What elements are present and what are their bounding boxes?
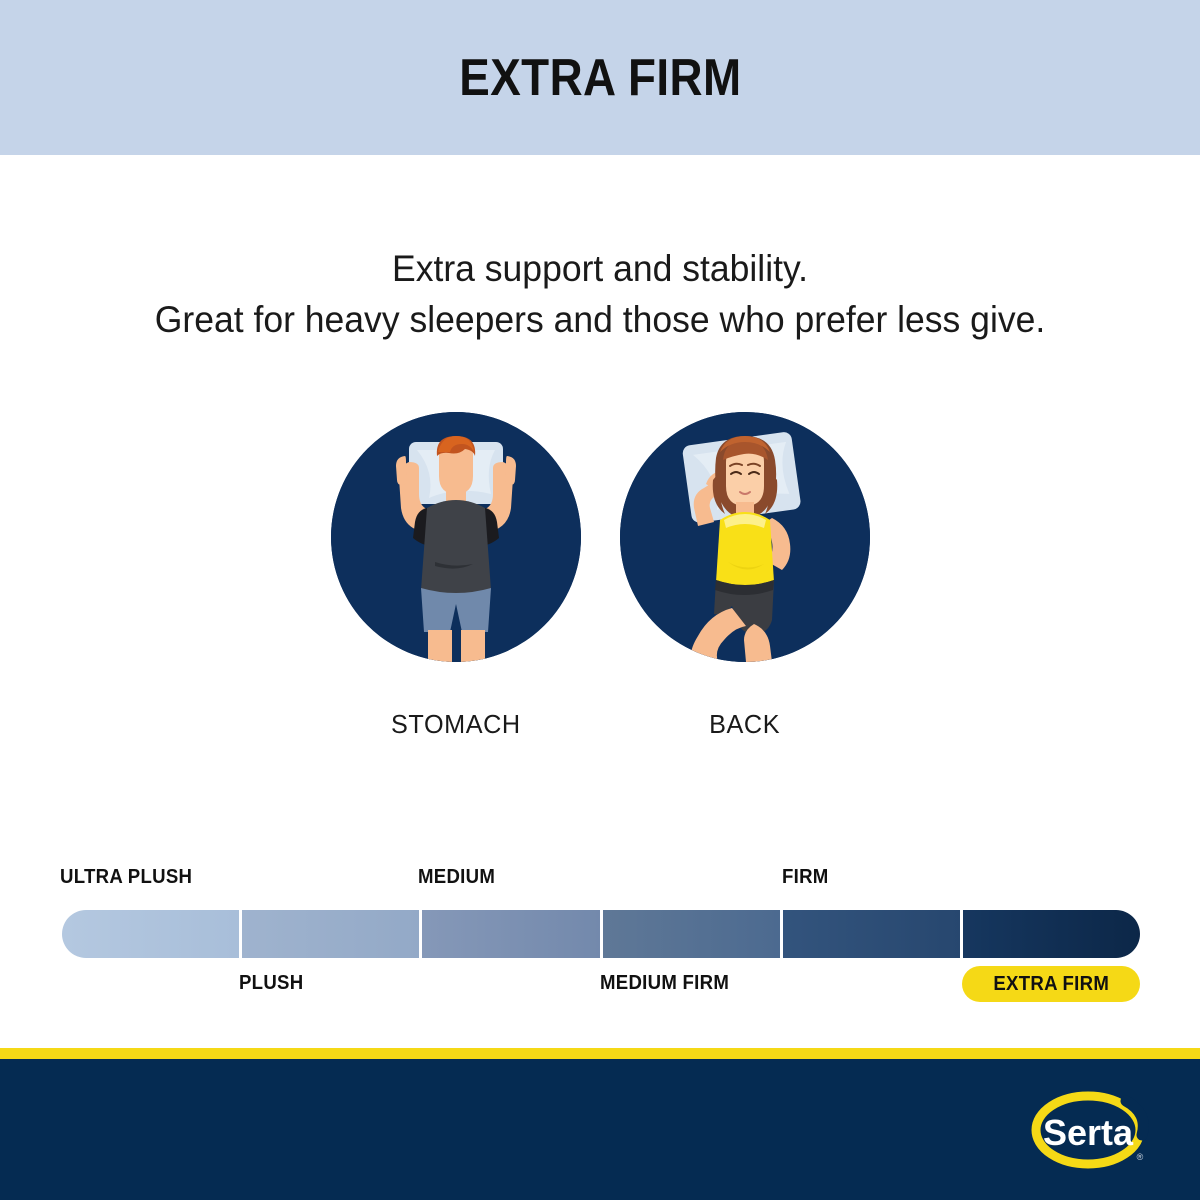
firmness-label-medium-firm: MEDIUM FIRM <box>600 972 729 995</box>
firmness-segment-medium-firm[interactable] <box>603 910 783 958</box>
sleeper-label-stomach: STOMACH <box>391 709 521 740</box>
page-footer <box>0 1059 1200 1200</box>
firmness-segment-extra-firm[interactable] <box>963 910 1140 958</box>
firmness-labels-top: ULTRA PLUSH MEDIUM FIRM <box>0 866 1200 894</box>
sleeper-positions: STOMACH <box>0 412 1200 740</box>
subtitle-line-1: Extra support and stability. <box>24 243 1176 294</box>
firmness-segment-ultra-plush[interactable] <box>62 910 242 958</box>
firmness-label-medium: MEDIUM <box>418 866 495 889</box>
firmness-scale: ULTRA PLUSH MEDIUM FIRM PLUSH MEDIUM FIR… <box>0 866 1200 1006</box>
serta-logo-trademark: ® <box>1137 1152 1144 1162</box>
serta-logo-wordmark: Serta <box>1043 1112 1134 1153</box>
firmness-label-ultra-plush: ULTRA PLUSH <box>60 866 192 889</box>
stomach-sleeper-illustration <box>331 412 581 662</box>
sleeper-label-back: BACK <box>709 709 780 740</box>
subtitle-line-2: Great for heavy sleepers and those who p… <box>24 294 1176 345</box>
sleeper-card-back: BACK <box>620 412 870 740</box>
firmness-segment-plush[interactable] <box>242 910 422 958</box>
firmness-segment-firm[interactable] <box>783 910 963 958</box>
footer-accent-stripe <box>0 1048 1200 1059</box>
firmness-label-firm: FIRM <box>782 866 829 889</box>
firmness-bar[interactable] <box>62 910 1140 958</box>
firmness-selected-badge-label: EXTRA FIRM <box>993 973 1109 996</box>
serta-logo[interactable]: Serta ® <box>1030 1090 1150 1172</box>
firmness-label-plush: PLUSH <box>239 972 303 995</box>
firmness-segment-medium[interactable] <box>422 910 602 958</box>
page-header: EXTRA FIRM <box>0 0 1200 155</box>
page-title: EXTRA FIRM <box>459 48 741 108</box>
subtitle-block: Extra support and stability. Great for h… <box>24 243 1176 345</box>
back-sleeper-illustration <box>620 412 870 662</box>
firmness-selected-badge[interactable]: EXTRA FIRM <box>962 966 1140 1002</box>
sleeper-card-stomach: STOMACH <box>331 412 581 740</box>
